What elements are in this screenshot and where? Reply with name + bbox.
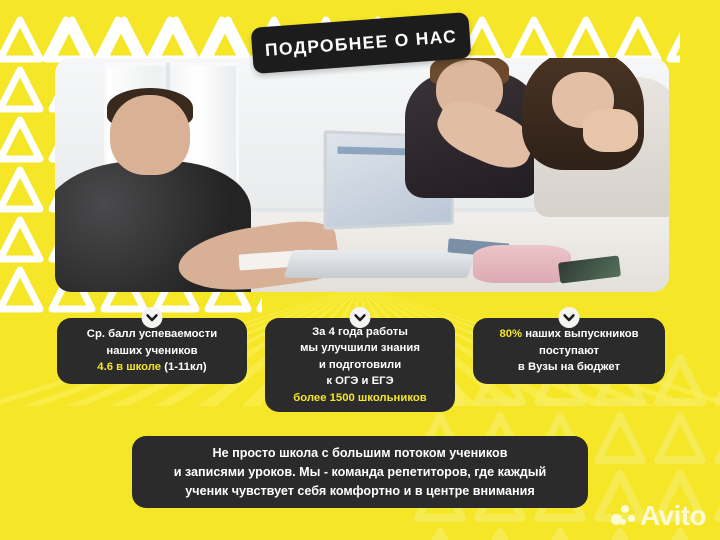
card-highlight: 80%	[499, 328, 522, 340]
card-line: в Вузы на бюджет	[518, 359, 620, 376]
banner-line: Не просто школа с большим потоком ученик…	[213, 444, 508, 463]
card-rest: наших выпускников	[522, 328, 639, 340]
avito-wordmark: Avito	[640, 502, 706, 530]
banner-line: и записями уроков. Мы - команда репетито…	[174, 463, 547, 482]
card-highlight: 4.6 в школе	[97, 361, 161, 373]
stat-card-prepared-students: За 4 года работы мы улучшили знания и по…	[265, 318, 455, 412]
card-line: Ср. балл успеваемости	[87, 326, 217, 343]
stat-card-university-admission: 80% наших выпускников поступают в Вузы н…	[473, 318, 665, 384]
card-line: мы улучшили знания	[300, 340, 420, 357]
card-line: к ОГЭ и ЕГЭ	[326, 373, 393, 390]
hero-photo	[55, 58, 669, 292]
card-line-mixed: 80% наших выпускников	[499, 326, 638, 343]
stat-card-average-score: Ср. балл успеваемости наших учеников 4.6…	[57, 318, 247, 384]
photo-person-left-head	[110, 95, 190, 175]
card-highlight: более 1500 школьников	[293, 390, 426, 407]
avito-dots-icon	[611, 505, 635, 527]
chevron-down-icon	[142, 307, 163, 328]
banner-line: ученик чувствует себя комфортно и в цент…	[185, 482, 534, 501]
chevron-down-icon	[350, 307, 371, 328]
card-line: поступают	[539, 343, 599, 360]
poster-canvas: ПОДРОБНЕЕ О НАС Ср. балл успеваемости на…	[0, 0, 720, 540]
card-line: наших учеников	[106, 343, 197, 360]
title-badge-label: ПОДРОБНЕЕ О НАС	[264, 25, 457, 60]
card-line: и подготовили	[319, 357, 401, 374]
bottom-banner: Не просто школа с большим потоком ученик…	[132, 436, 588, 508]
avito-watermark: Avito	[611, 502, 706, 530]
photo-laptop-base	[284, 250, 477, 278]
card-rest: (1-11кл)	[161, 361, 207, 373]
card-line-mixed: 4.6 в школе (1-11кл)	[97, 359, 206, 376]
photo-bag	[473, 245, 571, 282]
chevron-down-icon	[559, 307, 580, 328]
photo-person-right-hand	[583, 109, 638, 151]
